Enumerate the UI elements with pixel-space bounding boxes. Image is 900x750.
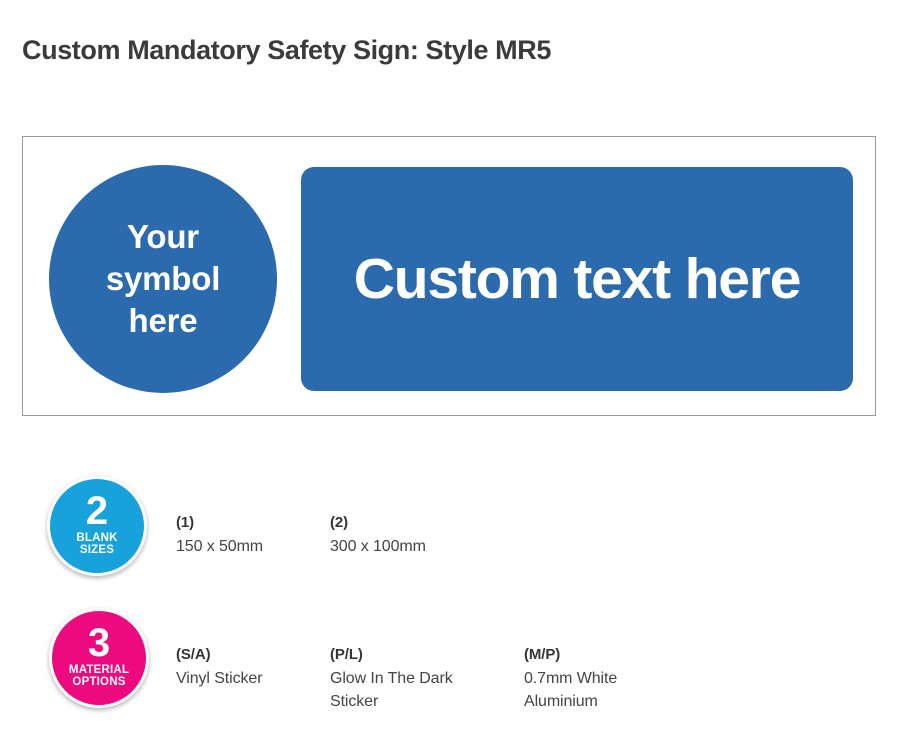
material-option-item[interactable]: (P/L) Glow In The Dark Sticker bbox=[330, 644, 480, 713]
material-option-code: (S/A) bbox=[176, 644, 326, 667]
badge-blank-sizes-number: 2 bbox=[86, 493, 108, 530]
badge-blank-sizes-caption-line1: BLANK bbox=[76, 532, 117, 545]
badge-material-options-caption-line1: MATERIAL bbox=[69, 664, 129, 677]
badge-material-options-caption-line2: OPTIONS bbox=[69, 676, 129, 689]
material-option-code: (M/P) bbox=[524, 644, 674, 667]
material-option-desc: Glow In The Dark Sticker bbox=[330, 667, 480, 713]
size-option-code: (1) bbox=[176, 512, 326, 535]
size-option-code: (2) bbox=[330, 512, 480, 535]
symbol-placeholder-label: Your symbol here bbox=[49, 216, 277, 343]
material-option-item[interactable]: (S/A) Vinyl Sticker bbox=[176, 644, 326, 690]
badge-material-options-caption: MATERIAL OPTIONS bbox=[69, 664, 129, 690]
material-option-desc: 0.7mm White Aluminium bbox=[524, 667, 674, 713]
size-option-desc: 300 x 100mm bbox=[330, 535, 480, 558]
custom-text-panel[interactable]: Custom text here bbox=[301, 167, 853, 391]
sign-preview-canvas: Your symbol here Custom text here bbox=[23, 137, 875, 415]
badge-material-options: 3 MATERIAL OPTIONS bbox=[49, 608, 149, 708]
page-title: Custom Mandatory Safety Sign: Style MR5 bbox=[22, 35, 551, 66]
badge-material-options-number: 3 bbox=[88, 625, 110, 662]
material-option-desc: Vinyl Sticker bbox=[176, 667, 326, 690]
sign-preview-frame: Your symbol here Custom text here bbox=[22, 136, 876, 416]
badge-blank-sizes: 2 BLANK SIZES bbox=[47, 476, 147, 576]
size-option-list: (1) 150 x 50mm (2) 300 x 100mm bbox=[176, 470, 876, 580]
material-option-code: (P/L) bbox=[330, 644, 480, 667]
material-option-item[interactable]: (M/P) 0.7mm White Aluminium bbox=[524, 644, 674, 713]
badge-blank-sizes-caption-line2: SIZES bbox=[76, 544, 117, 557]
symbol-placeholder-circle[interactable]: Your symbol here bbox=[49, 165, 277, 393]
size-option-desc: 150 x 50mm bbox=[176, 535, 326, 558]
size-option-item[interactable]: (1) 150 x 50mm bbox=[176, 512, 326, 558]
material-option-list: (S/A) Vinyl Sticker (P/L) Glow In The Da… bbox=[176, 602, 876, 712]
badge-blank-sizes-caption: BLANK SIZES bbox=[76, 532, 117, 558]
custom-text-label: Custom text here bbox=[354, 246, 800, 312]
size-option-item[interactable]: (2) 300 x 100mm bbox=[330, 512, 480, 558]
